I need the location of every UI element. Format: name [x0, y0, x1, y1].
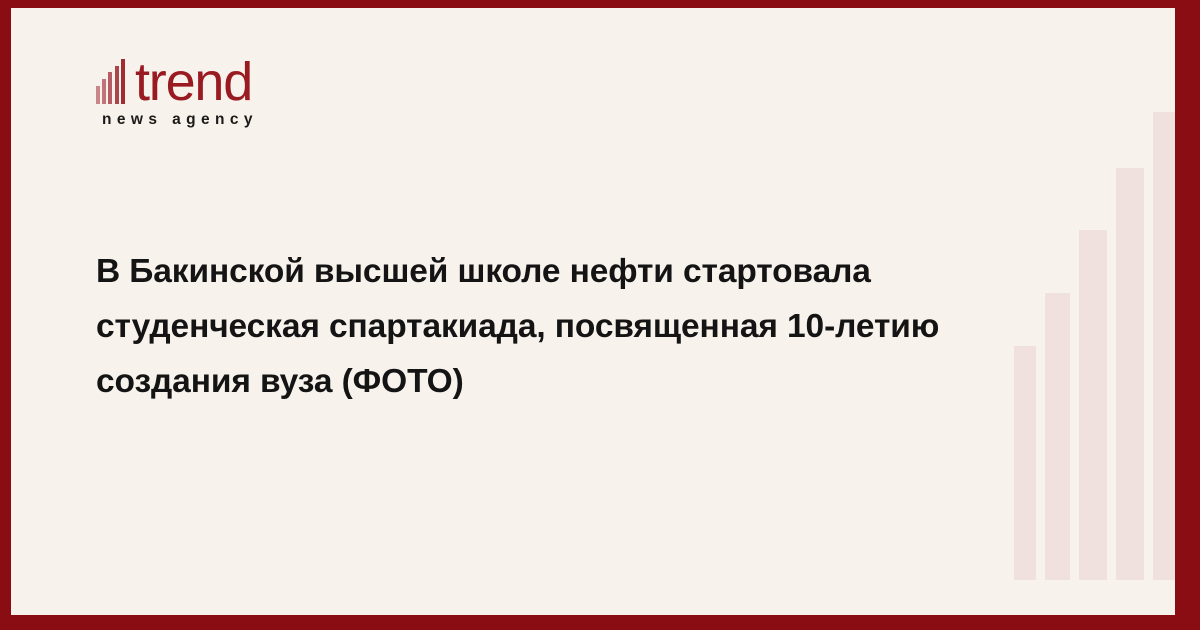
decorative-bar — [1116, 168, 1144, 580]
decorative-bar — [1153, 112, 1175, 580]
logo-bar — [115, 66, 119, 104]
trend-logo[interactable]: trend news agency — [96, 46, 356, 136]
logo-bar — [108, 72, 112, 104]
decorative-bar — [1079, 230, 1107, 580]
og-share-card: trend news agency В Бакинской высшей шко… — [0, 0, 1200, 630]
logo-bars-icon — [96, 56, 134, 104]
card-surface: trend news agency В Бакинской высшей шко… — [11, 8, 1175, 615]
decorative-bar-body — [1079, 266, 1107, 580]
logo-mark-row: trend — [96, 46, 356, 104]
logo-wordmark: trend — [135, 59, 252, 107]
logo-bar — [121, 59, 125, 104]
logo-bar — [96, 86, 100, 104]
decorative-bar-body — [1116, 210, 1144, 580]
logo-tagline: news agency — [102, 111, 356, 129]
decorative-bar-slant — [1116, 168, 1144, 210]
decorative-bar-body — [1153, 160, 1175, 580]
decorative-bar-slant — [1079, 230, 1107, 266]
headline: В Бакинской высшей школе нефти стартовал… — [96, 244, 1026, 409]
decorative-bar — [1045, 293, 1070, 580]
decorative-bar-body — [1045, 323, 1070, 580]
logo-bar — [102, 79, 106, 104]
decorative-bar-slant — [1153, 112, 1175, 160]
decorative-bar-slant — [1045, 293, 1070, 323]
decorative-bars-watermark — [1011, 8, 1175, 615]
